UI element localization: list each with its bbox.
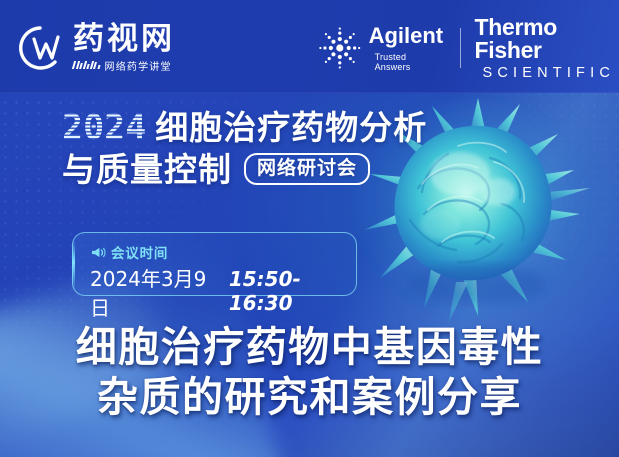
webinar-badge: 网络研讨会 [244,153,370,185]
thermofisher-subname: SCIENTIFIC [482,65,615,81]
agilent-name: Agilent [369,25,444,47]
partner-divider [460,28,461,68]
megaphone-icon [91,246,106,259]
brand-logo[interactable]: 药视网 网络药学讲堂 [16,24,175,73]
headline-line1: 细胞治疗药物分析 [155,110,427,146]
meeting-date: 2024年3月9日 [90,263,218,321]
partner-logos: Agilent Trusted Answers Thermo Fisher SC… [318,22,619,74]
thermofisher-logo[interactable]: Thermo Fisher SCIENTIFIC [474,16,619,81]
agilent-starburst-icon [318,26,362,70]
headline-year: 2024 [62,111,146,146]
poster-header: 药视网 网络药学讲堂 [0,0,619,93]
agilent-tagline: Trusted Answers [375,52,444,72]
webinar-poster: 药视网 网络药学讲堂 [0,0,619,457]
topic-line1: 细胞治疗药物中基因毒性 [0,322,619,372]
brand-tagline: 网络药学讲堂 [105,58,172,73]
brand-bars-icon [73,61,100,69]
thermofisher-name: Thermo Fisher [474,16,619,62]
meeting-time-box: 会议时间 2024年3月9日 15:50-16:30 [72,232,357,296]
meeting-time-label: 会议时间 [111,242,168,262]
brand-name: 药视网 [73,24,175,56]
agilent-logo[interactable]: Agilent Trusted Answers [318,25,444,72]
headline-block: 2024 细胞治疗药物分析 与质量控制 网络研讨会 [62,110,427,187]
ysw-circle-w-logo-icon [16,24,64,72]
topic-title: 细胞治疗药物中基因毒性 杂质的研究和案例分享 [0,322,619,422]
headline-line2: 与质量控制 [62,152,232,188]
meeting-time: 15:50-16:30 [229,267,356,315]
topic-line2: 杂质的研究和案例分享 [0,372,619,422]
